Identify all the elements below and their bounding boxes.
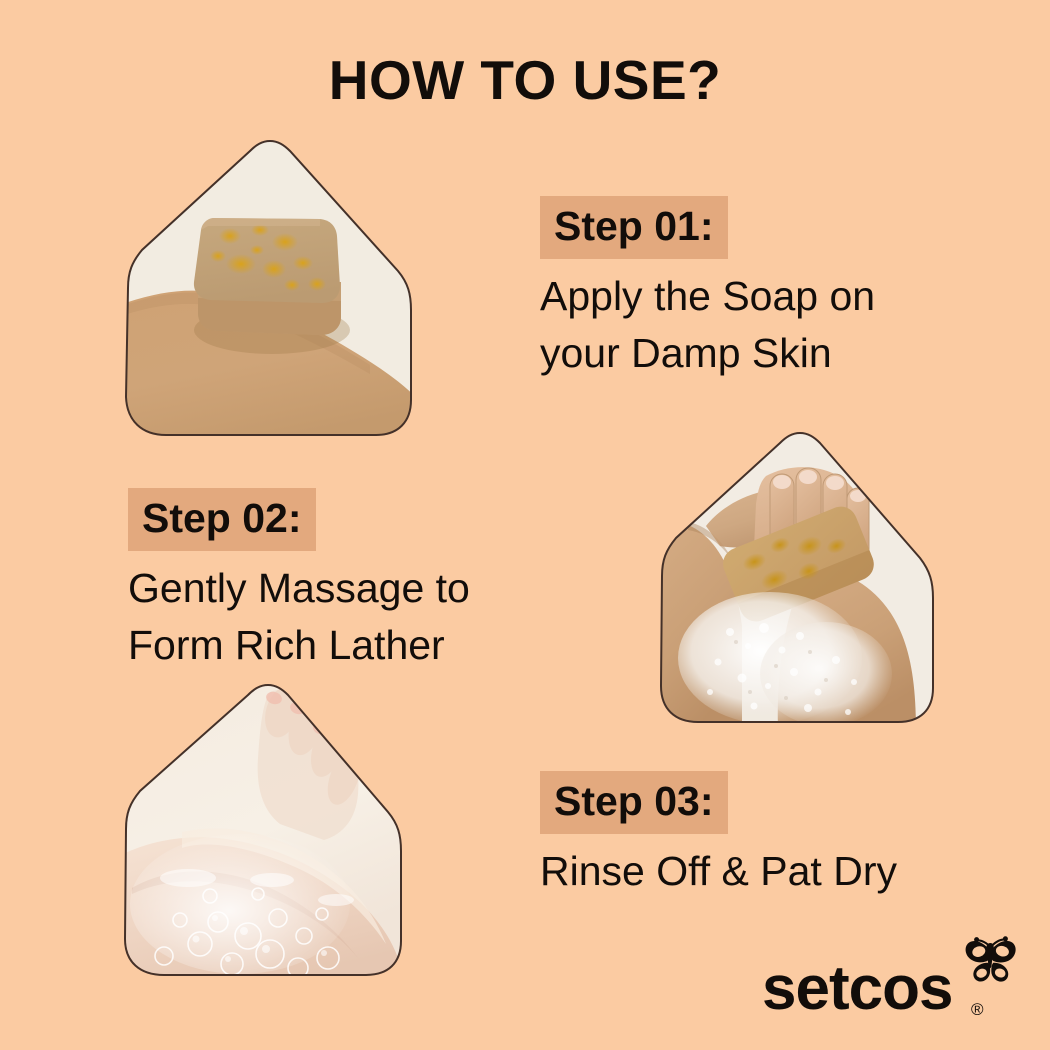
step-2-body: Gently Massage to Form Rich Lather: [128, 560, 470, 674]
step-3-photo: [122, 682, 404, 978]
step-3-block: Step 03: Rinse Off & Pat Dry: [540, 771, 897, 900]
butterfly-icon: [962, 932, 1018, 988]
step-3-body: Rinse Off & Pat Dry: [540, 843, 897, 900]
step-2-badge: Step 02:: [128, 488, 316, 551]
step-2-block: Step 02: Gently Massage to Form Rich Lat…: [128, 488, 470, 674]
page-title: HOW TO USE?: [0, 48, 1050, 112]
brand-name: setcos: [762, 958, 952, 1020]
infographic-canvas: HOW TO USE?: [0, 0, 1050, 1050]
brand-logo: setcos ®: [762, 940, 1012, 1020]
step-1-badge: Step 01:: [540, 196, 728, 259]
step-1-body: Apply the Soap on your Damp Skin: [540, 268, 875, 382]
step-1-photo: [122, 138, 414, 438]
step-1-block: Step 01: Apply the Soap on your Damp Ski…: [540, 196, 875, 382]
step-2-photo: [658, 430, 936, 725]
step-3-badge: Step 03:: [540, 771, 728, 834]
registered-trademark-symbol: ®: [971, 1001, 984, 1018]
